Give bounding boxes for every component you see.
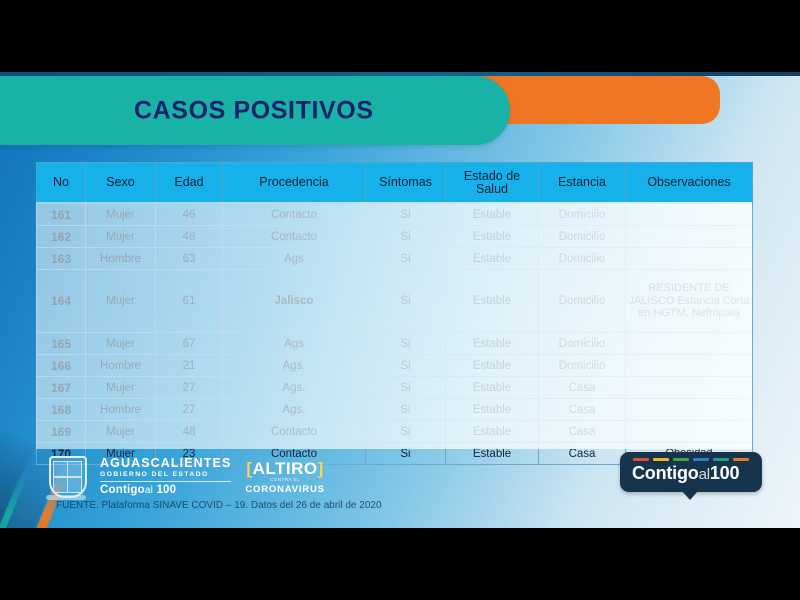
cell-observaciones bbox=[626, 248, 753, 270]
cell-procedencia: Ags. bbox=[223, 399, 366, 421]
table-header: No Sexo Edad Procedencia Síntomas Estado… bbox=[37, 163, 753, 204]
government-slogan: Contigoal 100 bbox=[100, 485, 231, 497]
badge-color-dashes bbox=[633, 458, 749, 461]
cell-procedencia: Contacto bbox=[223, 204, 366, 226]
badge-label: Contigoal100 bbox=[632, 463, 739, 484]
column-header-estancia: Estancia bbox=[539, 163, 626, 204]
cell-edad: 48 bbox=[156, 421, 223, 443]
table-row: 169Mujer48ContactoSiEstableCasa bbox=[37, 421, 753, 443]
cell-sexo: Mujer bbox=[86, 204, 156, 226]
cell-edad: 27 bbox=[156, 399, 223, 421]
badge-dash-5 bbox=[733, 458, 749, 461]
cell-sintomas: Si bbox=[366, 204, 446, 226]
cell-estado-salud: Estable bbox=[446, 248, 539, 270]
wordmark-divider bbox=[100, 481, 231, 482]
screenshot-canvas: CASOS POSITIVOS No S bbox=[0, 0, 800, 600]
contigo-al-100-badge: Contigoal100 bbox=[620, 452, 762, 492]
badge-main: Contigo bbox=[632, 463, 699, 483]
cell-edad: 21 bbox=[156, 355, 223, 377]
table-row: 165Mujer67AgsSiEstableDomicilio bbox=[37, 333, 753, 355]
cell-estado-salud: Estable bbox=[446, 377, 539, 399]
cell-procedencia: Ags. bbox=[223, 355, 366, 377]
cell-sintomas: Si bbox=[366, 377, 446, 399]
altiro-name-row: [ALTIRO] bbox=[245, 460, 324, 477]
cell-estado-salud: Estable bbox=[446, 226, 539, 248]
cell-no: 164 bbox=[37, 270, 86, 333]
cell-observaciones bbox=[626, 333, 753, 355]
source-note: FUENTE. Plataforma SINAVE COVID – 19. Da… bbox=[56, 500, 382, 511]
badge-dash-4 bbox=[713, 458, 729, 461]
aguascalientes-seal-icon bbox=[46, 454, 86, 500]
government-state-name: AGUASCALIENTES bbox=[100, 457, 231, 470]
cell-edad: 63 bbox=[156, 248, 223, 270]
cell-estado-salud: Estable bbox=[446, 270, 539, 333]
column-header-no: No bbox=[37, 163, 86, 204]
column-header-sexo: Sexo bbox=[86, 163, 156, 204]
page-title: CASOS POSITIVOS bbox=[134, 96, 374, 125]
cell-estancia: Casa bbox=[539, 377, 626, 399]
badge-dash-1 bbox=[653, 458, 669, 461]
cell-procedencia: Ags bbox=[223, 333, 366, 355]
cell-edad: 48 bbox=[156, 226, 223, 248]
column-header-observaciones: Observaciones bbox=[626, 163, 753, 204]
cell-sexo: Mujer bbox=[86, 421, 156, 443]
government-subtitle: GOBIERNO DEL ESTADO bbox=[100, 472, 231, 479]
altiro-subtitle: CORONAVIRUS bbox=[245, 485, 324, 495]
cell-sintomas: Si bbox=[366, 421, 446, 443]
cell-estado-salud: Estable bbox=[446, 204, 539, 226]
cell-sintomas: Si bbox=[366, 399, 446, 421]
cell-observaciones bbox=[626, 377, 753, 399]
cell-sexo: Mujer bbox=[86, 270, 156, 333]
cell-estado-salud: Estable bbox=[446, 333, 539, 355]
cell-no: 162 bbox=[37, 226, 86, 248]
badge-al: al bbox=[699, 466, 710, 483]
cell-sexo: Mujer bbox=[86, 333, 156, 355]
cell-procedencia: Ags. bbox=[223, 377, 366, 399]
cell-estancia: Casa bbox=[539, 399, 626, 421]
cell-estancia: Domicilio bbox=[539, 270, 626, 333]
cell-sintomas: Si bbox=[366, 333, 446, 355]
government-wordmark: AGUASCALIENTES GOBIERNO DEL ESTADO Conti… bbox=[100, 457, 231, 497]
table-header-row: No Sexo Edad Procedencia Síntomas Estado… bbox=[37, 163, 753, 204]
cell-estado-salud: Estable bbox=[446, 355, 539, 377]
badge-dash-3 bbox=[693, 458, 709, 461]
altiro-logo: [ALTIRO] CONTRA EL CORONAVIRUS bbox=[245, 460, 324, 495]
cell-procedencia: Contacto bbox=[223, 226, 366, 248]
cell-no: 165 bbox=[37, 333, 86, 355]
badge-num: 100 bbox=[710, 463, 739, 483]
cell-edad: 67 bbox=[156, 333, 223, 355]
cell-edad: 27 bbox=[156, 377, 223, 399]
cell-sintomas: Si bbox=[366, 443, 446, 465]
cell-procedencia: Ags bbox=[223, 248, 366, 270]
cases-table: No Sexo Edad Procedencia Síntomas Estado… bbox=[36, 162, 753, 465]
table-row: 167Mujer27Ags.SiEstableCasa bbox=[37, 377, 753, 399]
cell-procedencia: Contacto bbox=[223, 421, 366, 443]
cell-estancia: Domicilio bbox=[539, 355, 626, 377]
badge-dash-2 bbox=[673, 458, 689, 461]
cell-sintomas: Si bbox=[366, 226, 446, 248]
cell-edad: 46 bbox=[156, 204, 223, 226]
column-header-procedencia: Procedencia bbox=[223, 163, 366, 204]
cases-table-container: No Sexo Edad Procedencia Síntomas Estado… bbox=[36, 162, 752, 465]
slogan-al: al bbox=[145, 485, 153, 496]
table-row: 163Hombre63AgsSiEstableDomicilio bbox=[37, 248, 753, 270]
cell-sintomas: Si bbox=[366, 248, 446, 270]
altiro-name: ALTIRO bbox=[253, 459, 318, 478]
cell-observaciones bbox=[626, 399, 753, 421]
table-row: 161Mujer46ContactoSiEstableDomicilio bbox=[37, 204, 753, 226]
table-row: 166Hombre21Ags.SiEstableDomicilio bbox=[37, 355, 753, 377]
cell-observaciones bbox=[626, 226, 753, 248]
cell-sintomas: Si bbox=[366, 270, 446, 333]
cell-observaciones bbox=[626, 204, 753, 226]
cell-sexo: Hombre bbox=[86, 355, 156, 377]
cell-sexo: Mujer bbox=[86, 226, 156, 248]
cell-no: 169 bbox=[37, 421, 86, 443]
column-header-edad: Edad bbox=[156, 163, 223, 204]
cell-sexo: Hombre bbox=[86, 248, 156, 270]
presentation-slide: CASOS POSITIVOS No S bbox=[0, 72, 800, 528]
cell-estado-salud: Estable bbox=[446, 443, 539, 465]
footer-logo-group: AGUASCALIENTES GOBIERNO DEL ESTADO Conti… bbox=[46, 454, 325, 500]
slogan-num: 100 bbox=[156, 484, 176, 496]
cell-estancia: Casa bbox=[539, 443, 626, 465]
cell-estancia: Domicilio bbox=[539, 226, 626, 248]
cell-observaciones bbox=[626, 421, 753, 443]
cell-no: 166 bbox=[37, 355, 86, 377]
cell-observaciones bbox=[626, 355, 753, 377]
cell-estancia: Casa bbox=[539, 421, 626, 443]
bracket-right-icon: ] bbox=[318, 459, 324, 478]
cell-observaciones: RESIDENTE DE JALISCO Estancia Corta en H… bbox=[626, 270, 753, 333]
cell-estancia: Domicilio bbox=[539, 204, 626, 226]
cell-edad: 61 bbox=[156, 270, 223, 333]
cell-sintomas: Si bbox=[366, 355, 446, 377]
cell-estancia: Domicilio bbox=[539, 333, 626, 355]
title-banner: CASOS POSITIVOS bbox=[0, 76, 510, 145]
cell-no: 163 bbox=[37, 248, 86, 270]
badge-dash-0 bbox=[633, 458, 649, 461]
column-header-estado-de-salud: Estado de Salud bbox=[446, 163, 539, 204]
decorative-streak-blue bbox=[0, 424, 38, 528]
cell-no: 168 bbox=[37, 399, 86, 421]
altiro-mini-text: CONTRA EL bbox=[245, 478, 324, 483]
cell-sexo: Mujer bbox=[86, 377, 156, 399]
table-body: 161Mujer46ContactoSiEstableDomicilio162M… bbox=[37, 204, 753, 465]
cell-estancia: Domicilio bbox=[539, 248, 626, 270]
table-row: 168Hombre27Ags.SiEstableCasa bbox=[37, 399, 753, 421]
cell-no: 167 bbox=[37, 377, 86, 399]
decorative-streak-teal bbox=[0, 470, 28, 528]
cell-procedencia: Jalisco bbox=[223, 270, 366, 333]
cell-estado-salud: Estable bbox=[446, 399, 539, 421]
cell-sexo: Hombre bbox=[86, 399, 156, 421]
column-header-sintomas: Síntomas bbox=[366, 163, 446, 204]
cell-estado-salud: Estable bbox=[446, 421, 539, 443]
table-row: 164Mujer61JaliscoSiEstableDomicilioRESID… bbox=[37, 270, 753, 333]
table-row: 162Mujer48ContactoSiEstableDomicilio bbox=[37, 226, 753, 248]
cell-no: 161 bbox=[37, 204, 86, 226]
slogan-main: Contigo bbox=[100, 484, 145, 496]
